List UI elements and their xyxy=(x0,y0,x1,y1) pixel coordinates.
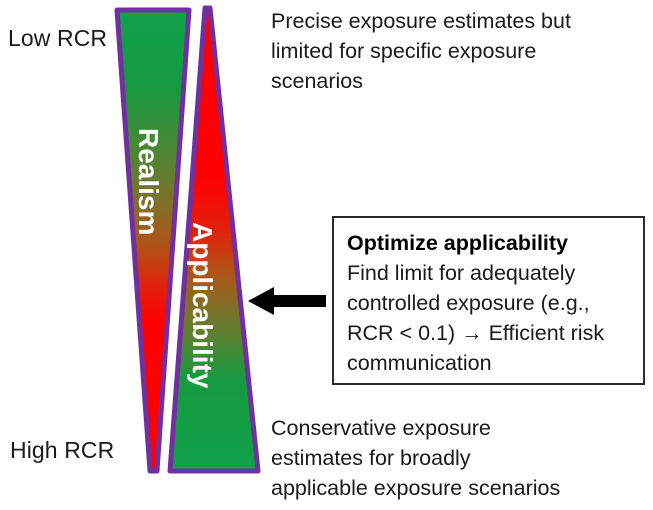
top-note-text: Precise exposure estimates but limited f… xyxy=(271,6,631,96)
callout-line-2: controlled exposure (e.g., xyxy=(347,288,643,318)
bottom-note-line-1: Conservative exposure xyxy=(271,413,643,443)
bottom-note-line-3: applicable exposure scenarios xyxy=(271,473,643,503)
diagram-canvas: Low RCR High RCR xyxy=(0,0,653,510)
axis-label-high-rcr: High RCR xyxy=(10,437,114,464)
bottom-note-text: Conservative exposure estimates for broa… xyxy=(271,413,643,503)
top-note-line-2: limited for specific exposure xyxy=(271,36,631,66)
callout-line-3: RCR < 0.1) → Efficient risk xyxy=(347,318,643,348)
top-note-line-3: scenarios xyxy=(271,66,631,96)
realism-triangle-caption: Realism xyxy=(132,128,164,235)
callout-body: Find limit for adequately controlled exp… xyxy=(347,258,643,378)
callout-content: Optimize applicability Find limit for ad… xyxy=(334,218,643,378)
axis-label-low-rcr: Low RCR xyxy=(8,25,107,52)
callout-line-4: communication xyxy=(347,348,643,378)
applicability-triangle-caption: Applicability xyxy=(186,222,218,388)
callout-title: Optimize applicability xyxy=(347,228,643,258)
callout-line-1: Find limit for adequately xyxy=(347,258,643,288)
callout-box: Optimize applicability Find limit for ad… xyxy=(332,216,645,385)
top-note-line-1: Precise exposure estimates but xyxy=(271,6,631,36)
pointer-arrow-icon xyxy=(248,286,326,316)
bottom-note-line-2: estimates for broadly xyxy=(271,443,643,473)
